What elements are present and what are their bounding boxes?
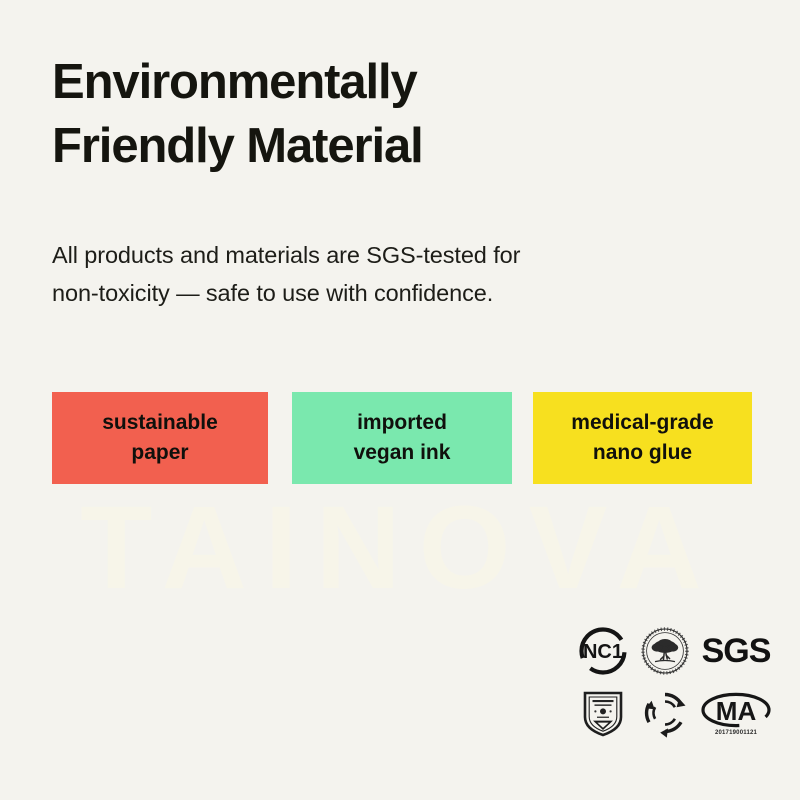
- material-tag-nano-glue-line-2: nano glue: [593, 438, 692, 468]
- material-tag-nano-glue-line-1: medical-grade: [571, 408, 713, 438]
- cma-certification-code: 201719001121: [715, 730, 757, 736]
- cma-certification-icon: MA 201719001121: [700, 691, 772, 736]
- page-title-line-2: Friendly Material: [52, 114, 672, 178]
- quality-shield-badge-icon: [580, 688, 626, 738]
- svg-text:NC1: NC1: [583, 641, 623, 663]
- page-subtitle-line-2: non-toxicity — safe to use with confiden…: [52, 274, 652, 312]
- page-title-line-1: Environmentally: [52, 50, 672, 114]
- nc1-certification-icon: NC1: [578, 626, 628, 676]
- sgs-certification-icon: SGS: [702, 634, 771, 668]
- forest-seal-icon: [640, 626, 690, 676]
- page-title: Environmentally Friendly Material: [52, 50, 672, 178]
- material-tag-row: sustainable paper imported vegan ink med…: [52, 392, 752, 484]
- material-tag-vegan-ink: imported vegan ink: [292, 392, 512, 484]
- material-tag-nano-glue: medical-grade nano glue: [533, 392, 752, 484]
- page-subtitle: All products and materials are SGS-teste…: [52, 236, 652, 312]
- brand-watermark: TAINOVA: [0, 488, 800, 608]
- svg-text:MA: MA: [716, 696, 757, 726]
- material-tag-sustainable-paper-line-1: sustainable: [102, 408, 218, 438]
- material-tag-vegan-ink-line-2: vegan ink: [354, 438, 451, 468]
- material-tag-sustainable-paper: sustainable paper: [52, 392, 268, 484]
- page-subtitle-line-1: All products and materials are SGS-teste…: [52, 236, 652, 274]
- certification-logo-grid: NC1 SGS: [572, 620, 784, 748]
- material-tag-sustainable-paper-line-2: paper: [131, 438, 188, 468]
- recycling-arrows-icon: [640, 688, 690, 738]
- material-tag-vegan-ink-line-1: imported: [357, 408, 447, 438]
